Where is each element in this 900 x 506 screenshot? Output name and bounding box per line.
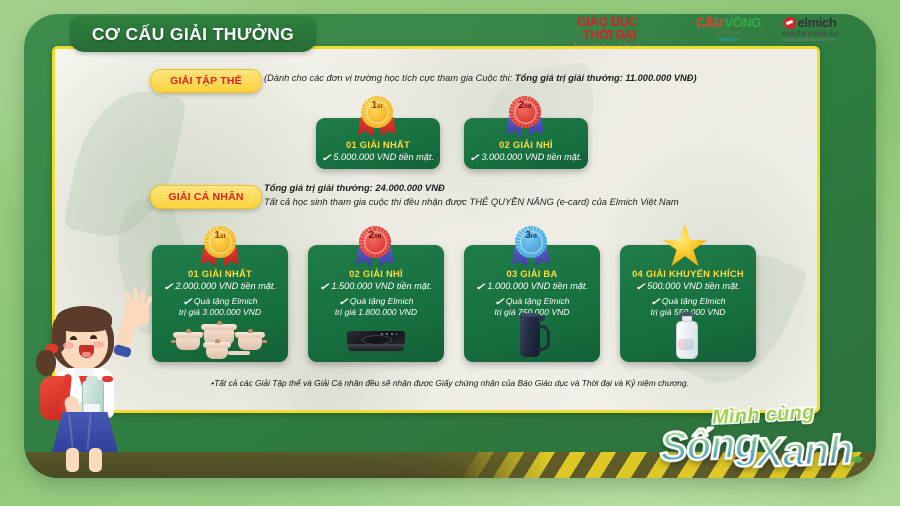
section-pill-collective-label: GIẢI TẬP THỂ bbox=[170, 75, 242, 87]
mascot-finger-4 bbox=[144, 296, 152, 309]
collective-card-1-line1: ✓5.000.000 VND tiền mặt. bbox=[316, 152, 440, 164]
individual-card-2-gift-line1: Quà tặng Elmich bbox=[350, 296, 414, 306]
medal-rank-suffix: rd bbox=[531, 234, 537, 240]
logo-giaoduc-tagline: BÁO CỦA BỘ GIÁO DỤC VÀ ĐÀO TẠO bbox=[574, 43, 640, 47]
mascot-leg-left bbox=[66, 448, 79, 472]
individual-card-4-cash: ✓500.000 VND tiền mặt. bbox=[620, 281, 756, 293]
saucepan-handle bbox=[228, 351, 250, 355]
logo-cauvong-sub2: Tuổi thơ bbox=[696, 37, 761, 43]
check-icon: ✓ bbox=[321, 153, 331, 164]
individual-note-line2: Tất cả học sinh tham gia cuộc thi đều nh… bbox=[264, 196, 679, 207]
check-icon: ✓ bbox=[319, 282, 329, 293]
logo-cauvong-words: CẦUVỒNG bbox=[696, 16, 761, 29]
individual-card-3-cash-text: 1.000.000 VND tiền mặt. bbox=[487, 281, 588, 291]
mascot-sleeve-stripe-right bbox=[102, 376, 113, 382]
pot-knob bbox=[248, 329, 253, 333]
collective-note-plain: (Dành cho các đơn vị trường học tích cực… bbox=[264, 73, 515, 83]
check-icon: ✓ bbox=[635, 282, 645, 293]
star-icon bbox=[663, 224, 707, 268]
individual-card-4-gift-line1: Quà tặng Elmich bbox=[662, 296, 726, 306]
medal-disc: 2nd bbox=[359, 226, 391, 258]
logo-row: GIÁO DỤC &THỜI ĐẠI BÁO CỦA BỘ GIÁO DỤC V… bbox=[560, 12, 860, 52]
section-pill-individual: GIẢI CÁ NHÂN bbox=[150, 185, 262, 209]
individual-card-4-cash-text: 500.000 VND tiền mặt. bbox=[647, 281, 740, 291]
individual-note-line2-text: Tất cả học sinh tham gia cuộc thi đều nh… bbox=[264, 196, 679, 207]
pot-handle-right bbox=[262, 340, 267, 343]
mascot-schoolgirl bbox=[30, 288, 175, 474]
logo-cauvong: CẦUVỒNG BÁO THIẾU NIÊN Tuổi thơ bbox=[696, 16, 761, 43]
section-pill-collective: GIẢI TẬP THỂ bbox=[150, 69, 262, 93]
thermos-spout bbox=[538, 316, 545, 321]
medal-core: 1st bbox=[366, 101, 389, 124]
individual-card-3-cash: ✓1.000.000 VND tiền mặt. bbox=[464, 281, 600, 293]
thermos-body bbox=[520, 317, 540, 357]
mascot-tongue bbox=[82, 352, 91, 357]
page-title: CƠ CẤU GIẢI THƯỞNG bbox=[70, 16, 316, 52]
product-induction-cooker bbox=[347, 331, 405, 353]
cooker-controls bbox=[381, 333, 397, 335]
mascot-cheek-right bbox=[93, 341, 104, 348]
medal-rank-suffix: st bbox=[377, 104, 382, 110]
cooker-base bbox=[348, 344, 404, 351]
mascot-eye-right bbox=[90, 335, 97, 339]
logo-cauvong-word2: VỒNG bbox=[725, 15, 761, 30]
individual-card-1-gift-line2: trị giá 3.000.000 VND bbox=[179, 307, 261, 317]
check-icon: ✓ bbox=[469, 153, 479, 164]
pot-knob bbox=[186, 329, 191, 333]
medal-star-individual bbox=[663, 224, 707, 268]
thermos-handle bbox=[538, 325, 550, 351]
pot-knob bbox=[215, 339, 220, 343]
logo-cauvong-word1: CẦU bbox=[696, 15, 723, 30]
collective-card-1-line1-text: 5.000.000 VND tiền mặt. bbox=[333, 152, 434, 162]
mascot-cheek-left bbox=[63, 342, 74, 349]
logo-giaoduc-line2: &THỜI ĐẠI bbox=[574, 29, 640, 42]
logo-elmich: elmich CHUẨN CHÂU ÂU VÌ SỨC KHỎE GIA ĐÌN… bbox=[762, 15, 858, 42]
medal-1st-individual: 1st bbox=[200, 226, 240, 272]
brand-lockup: Mình cùng Sống Xanh bbox=[660, 404, 875, 476]
medal-2nd-collective: 2nd bbox=[505, 96, 545, 142]
medal-2nd-individual: 2nd bbox=[355, 226, 395, 272]
individual-card-4-title: 04 GIẢI KHUYẾN KHÍCH bbox=[620, 268, 756, 279]
individual-card-1-gift-line1: Quà tặng Elmich bbox=[194, 296, 258, 306]
individual-note-line1: Tổng giá trị giải thưởng: 24.000.000 VNĐ bbox=[264, 182, 445, 193]
logo-cauvong-sub1: BÁO THIẾU NIÊN bbox=[696, 31, 761, 35]
product-cookware-set bbox=[170, 324, 270, 360]
mascot-finger-2 bbox=[132, 288, 138, 304]
pot-medium-right bbox=[238, 336, 262, 350]
individual-card-3-gift-line1: Quà tặng Elmich bbox=[506, 296, 570, 306]
logo-giaoduc-line2-text: THỜI ĐẠI bbox=[583, 28, 636, 42]
collective-card-2-line1: ✓3.000.000 VND tiền mặt. bbox=[464, 152, 588, 164]
mascot-skirt bbox=[52, 412, 118, 452]
pot-medium-left bbox=[176, 336, 200, 350]
brand-word-song: Sống bbox=[659, 420, 759, 470]
mascot-leg-right bbox=[89, 448, 102, 472]
page-title-text: CƠ CẤU GIẢI THƯỞNG bbox=[92, 24, 294, 45]
saucepan bbox=[206, 346, 228, 359]
logo-giaoduc-thoidai: GIÁO DỤC &THỜI ĐẠI BÁO CỦA BỘ GIÁO DỤC V… bbox=[574, 16, 640, 47]
medal-disc: 3rd bbox=[515, 226, 547, 258]
mascot-eye-left bbox=[70, 336, 77, 340]
brand-leaf-icon bbox=[851, 455, 863, 465]
brand-word-xanh: Xanh bbox=[755, 426, 853, 476]
medal-rank-suffix: nd bbox=[374, 234, 381, 240]
bottle-decoration bbox=[678, 339, 694, 350]
logo-elmich-top: elmich bbox=[762, 15, 858, 30]
check-icon: ✓ bbox=[475, 282, 485, 293]
individual-note-line1-text: Tổng giá trị giải thưởng: 24.000.000 VNĐ bbox=[264, 182, 445, 193]
collective-note-bold: Tổng giá trị giải thưởng: 11.000.000 VNĐ… bbox=[515, 73, 697, 83]
medal-3rd-individual: 3rd bbox=[511, 226, 551, 272]
individual-card-2-gift2: trị giá 1.800.000 VND bbox=[308, 307, 444, 318]
medal-disc: 1st bbox=[204, 226, 236, 258]
product-water-bottle bbox=[671, 313, 705, 359]
collective-note: (Dành cho các đơn vị trường học tích cực… bbox=[264, 73, 697, 83]
medal-core: 2nd bbox=[364, 231, 387, 254]
mascot-bottle-cap bbox=[86, 376, 98, 382]
medal-disc: 1st bbox=[361, 96, 393, 128]
poster-canvas: CƠ CẤU GIẢI THƯỞNG GIÁO DỤC &THỜI ĐẠI BÁ… bbox=[0, 0, 900, 506]
logo-elmich-sub1: CHUẨN CHÂU ÂU bbox=[762, 31, 858, 38]
mascot-bottle-label bbox=[84, 404, 100, 413]
collective-card-2-line1-text: 3.000.000 VND tiền mặt. bbox=[481, 152, 582, 162]
medal-core: 2nd bbox=[514, 101, 537, 124]
individual-card-2-cash-text: 1.500.000 VND tiền mặt. bbox=[331, 281, 432, 291]
logo-elmich-sub2: VÌ SỨC KHỎE GIA ĐÌNH VIỆT bbox=[762, 38, 858, 42]
elmich-mark-icon bbox=[784, 17, 796, 29]
medal-rank-suffix: nd bbox=[524, 104, 531, 110]
individual-card-2-cash: ✓1.500.000 VND tiền mặt. bbox=[308, 281, 444, 293]
individual-card-2-gift-line2: trị giá 1.800.000 VND bbox=[335, 307, 417, 317]
logo-elmich-name: elmich bbox=[798, 15, 837, 30]
pot-knob bbox=[217, 321, 222, 325]
medal-1st-collective: 1st bbox=[357, 96, 397, 142]
individual-card-1-cash-text: 2.000.000 VND tiền mặt. bbox=[175, 281, 276, 291]
product-thermos-flask bbox=[514, 313, 550, 359]
medal-core: 3rd bbox=[520, 231, 543, 254]
medal-rank-suffix: st bbox=[220, 234, 225, 240]
mascot-pigtail bbox=[36, 350, 56, 376]
medal-core: 1st bbox=[209, 231, 232, 254]
medal-disc: 2nd bbox=[509, 96, 541, 128]
section-pill-individual-label: GIẢI CÁ NHÂN bbox=[168, 191, 243, 203]
